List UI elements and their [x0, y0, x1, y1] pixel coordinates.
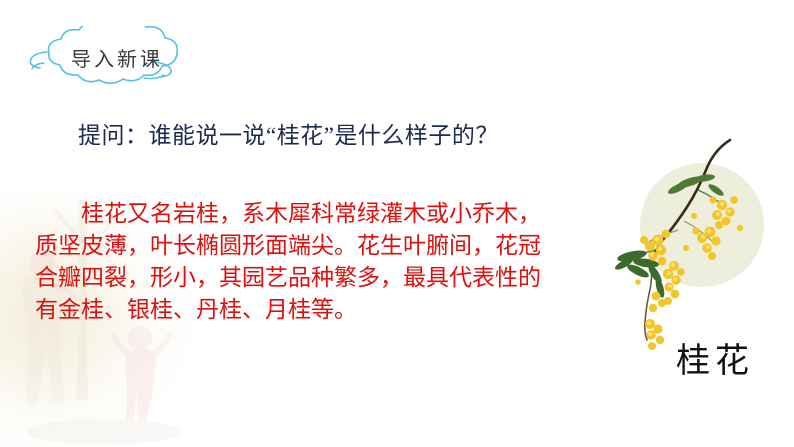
osmanthus-branch-icon: [598, 128, 794, 358]
illustration-group: 桂花: [598, 128, 794, 428]
question-paragraph: 提问：谁能说一说“桂花”是什么样子的？: [78, 118, 578, 154]
body-paragraph: 桂花又名岩桂，系木犀科常绿灌木或小乔木，质坚皮薄，叶长椭圆形面端尖。花生叶腑间，…: [35, 198, 563, 326]
slide-canvas: 导入新课 提问：谁能说一说“桂花”是什么样子的？ 桂花又名岩桂，系木犀科常绿灌木…: [0, 0, 794, 447]
section-banner: 导入新课: [14, 26, 214, 88]
banner-label: 导入新课: [14, 26, 214, 88]
illustration-caption: 桂花: [598, 333, 794, 382]
